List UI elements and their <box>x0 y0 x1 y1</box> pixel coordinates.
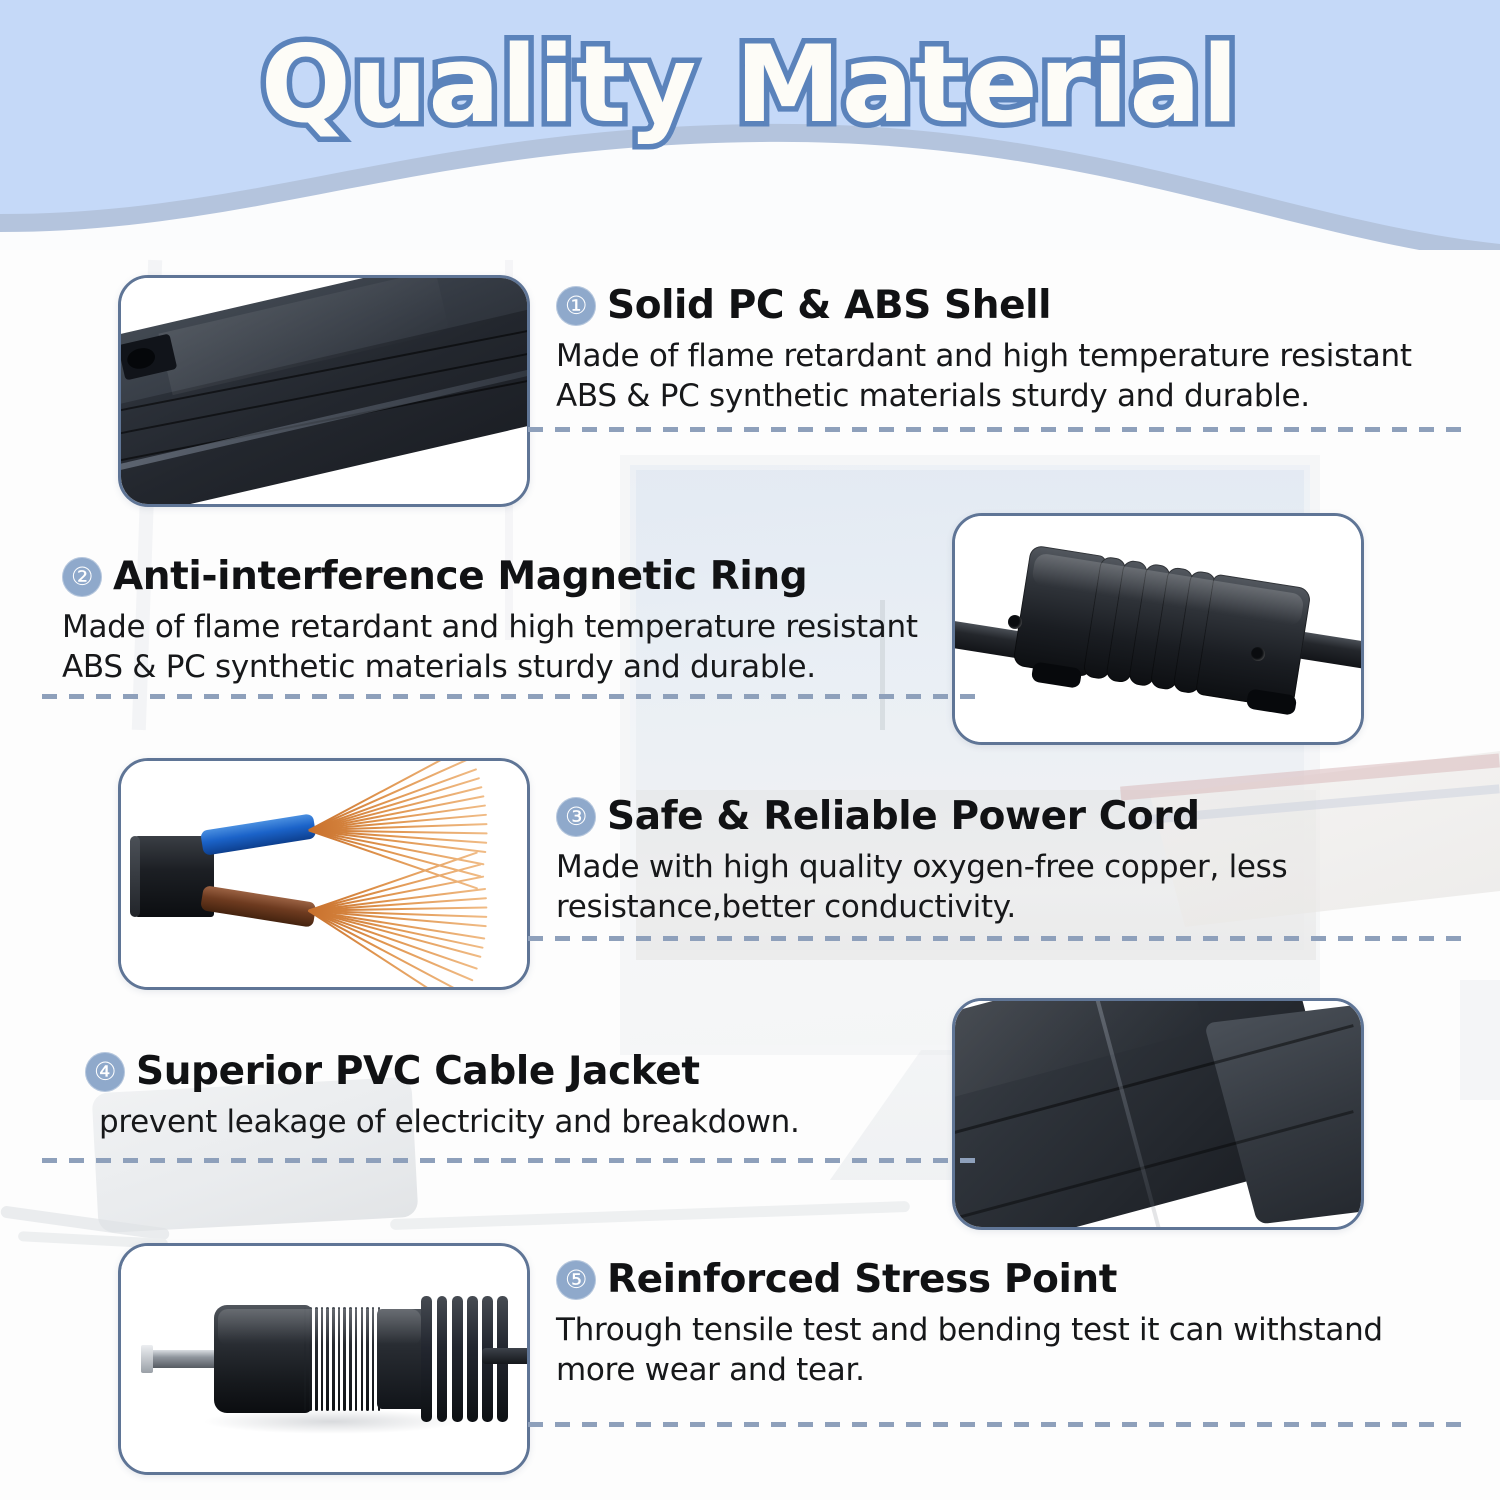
feature-5-number-badge: ⑤ <box>556 1260 596 1300</box>
feature-3-title: Safe & Reliable Power Cord <box>607 795 1200 839</box>
features-list: ① Solid PC & ABS Shell Made of flame ret… <box>0 250 1500 1500</box>
feature-4-description: prevent leakage of electricity and break… <box>99 1102 985 1142</box>
feature-5-title: Reinforced Stress Point <box>607 1258 1117 1302</box>
feature-1-divider <box>528 427 1468 432</box>
feature-5-divider <box>528 1422 1468 1427</box>
feature-5-heading: ⑤ Reinforced Stress Point <box>556 1258 1466 1302</box>
feature-3-heading: ③ Safe & Reliable Power Cord <box>556 795 1466 839</box>
feature-5-image-frame <box>118 1243 530 1475</box>
feature-4-number-badge: ④ <box>85 1052 125 1092</box>
header-banner: Quality Material <box>0 0 1500 250</box>
stripped-copper-wire-photo <box>121 761 527 987</box>
feature-1-number-badge: ① <box>556 286 596 326</box>
magnetic-ferrite-ring-photo <box>955 516 1361 742</box>
feature-5-description: Through tensile test and bending test it… <box>556 1310 1466 1391</box>
feature-4-heading: ④ Superior PVC Cable Jacket <box>85 1050 985 1094</box>
feature-1-text: ① Solid PC & ABS Shell Made of flame ret… <box>556 284 1466 416</box>
feature-3-description: Made with high quality oxygen-free coppe… <box>556 847 1466 928</box>
copper-strand-fan <box>305 777 490 863</box>
feature-2-number-badge: ② <box>62 557 102 597</box>
feature-4-divider <box>42 1158 982 1163</box>
feature-3-text: ③ Safe & Reliable Power Cord Made with h… <box>556 795 1466 927</box>
page-title: Quality Material <box>261 28 1240 142</box>
feature-5-text: ⑤ Reinforced Stress Point Through tensil… <box>556 1258 1466 1390</box>
feature-1-title: Solid PC & ABS Shell <box>607 284 1051 328</box>
power-adapter-brick-photo <box>121 278 527 504</box>
feature-4-text: ④ Superior PVC Cable Jacket prevent leak… <box>85 1050 985 1142</box>
feature-3-image-frame <box>118 758 530 990</box>
dc-barrel-plug-photo <box>121 1246 527 1472</box>
feature-2-title: Anti-interference Magnetic Ring <box>113 555 807 599</box>
feature-1-heading: ① Solid PC & ABS Shell <box>556 284 1466 328</box>
feature-2-divider <box>42 694 982 699</box>
feature-3-number-badge: ③ <box>556 797 596 837</box>
feature-1-description: Made of flame retardant and high tempera… <box>556 336 1466 417</box>
feature-3-divider <box>528 936 1468 941</box>
adapter-corner-closeup-photo <box>955 1001 1361 1227</box>
feature-4-title: Superior PVC Cable Jacket <box>136 1050 700 1094</box>
page-title-wrap: Quality Material <box>0 28 1500 142</box>
feature-2-description: Made of flame retardant and high tempera… <box>62 607 962 688</box>
copper-strand-fan <box>305 876 490 962</box>
feature-1-image-frame <box>118 275 530 507</box>
infographic-page: Quality Material <box>0 0 1500 1500</box>
feature-2-heading: ② Anti-interference Magnetic Ring <box>62 555 962 599</box>
feature-2-text: ② Anti-interference Magnetic Ring Made o… <box>62 555 962 687</box>
feature-2-image-frame <box>952 513 1364 745</box>
feature-4-image-frame <box>952 998 1364 1230</box>
